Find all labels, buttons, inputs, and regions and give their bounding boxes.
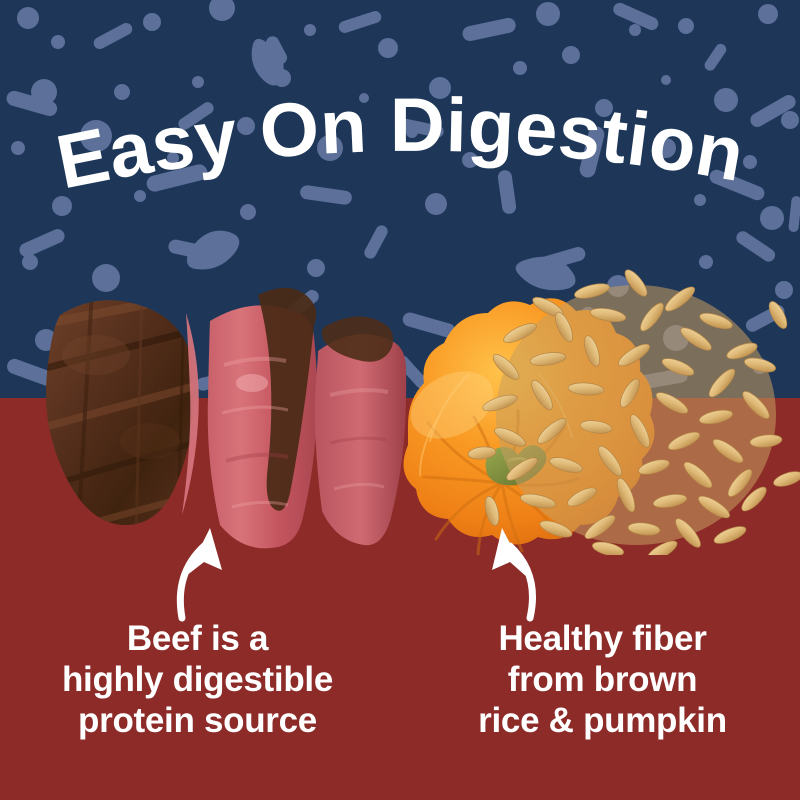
caption-beef-line-3: protein source [0, 700, 395, 741]
callout-captions: Beef is a highly digestible protein sour… [0, 618, 800, 758]
caption-beef: Beef is a highly digestible protein sour… [0, 618, 401, 758]
caption-fiber-line-3: rice & pumpkin [405, 700, 800, 741]
caption-fiber-line-2: from brown [405, 659, 800, 700]
caption-beef-line-1: Beef is a [0, 618, 395, 659]
curved-arrow-up-left-icon [492, 528, 533, 618]
curved-arrow-up-right-icon [180, 528, 222, 618]
poster-canvas: Easy On Digestion [0, 0, 800, 800]
caption-fiber: Healthy fiber from brown rice & pumpkin [401, 618, 800, 758]
caption-fiber-line-1: Healthy fiber [405, 618, 800, 659]
caption-beef-line-2: highly digestible [0, 659, 395, 700]
